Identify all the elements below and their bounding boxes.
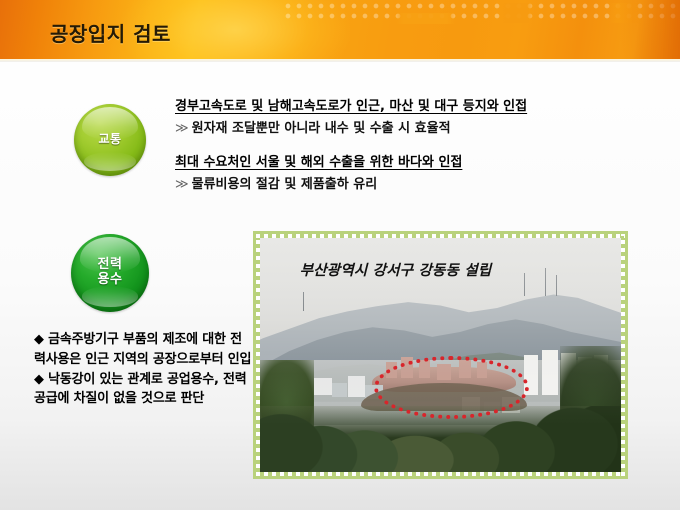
note-item: ◆ 낙동강이 있는 관계로 공업용수, 전력 공급에 차질이 없을 것으로 판단 [34,370,252,410]
header-dot-pattern [285,3,680,23]
badge-traffic-label: 교통 [98,133,121,146]
header-dot-pattern-mask-secondary [285,13,680,24]
chevron-right-icon: ≫ [175,177,189,192]
photo-image: 부산광역시 강서구 강동동 설립 [260,238,621,472]
photo-building [332,383,346,397]
header-right-shade [620,0,680,59]
badge-power-water: 전력 용수 [71,234,149,312]
chevron-right-icon: ≫ [175,121,189,136]
photo-antenna [303,292,304,311]
page-title: 공장입지 검토 [50,18,171,47]
traffic-bullet-1: ≫원자재 조달뿐만 아니라 내수 및 수출 시 효율적 [175,120,527,138]
note-list-power-water: ◆ 금속주방기구 부품의 제조에 대한 전력사용은 인근 지역의 공장으로부터 … [34,330,252,409]
photo-antenna [524,273,525,296]
photo-building [314,378,332,394]
traffic-bullet-2-text: 물류비용의 절감 및 제품출하 유리 [192,177,378,192]
badge-power-water-label-1: 전력 [98,258,123,273]
header-dot-pattern-mask [285,3,680,23]
photo-panel: 부산광역시 강서구 강동동 설립 [253,231,628,479]
photo-caption: 부산광역시 강서구 강동동 설립 [300,259,492,280]
text-block-traffic-2: 최대 수요처인 서울 및 해외 수출을 위한 바다와 인접 ≫물류비용의 절감 … [175,154,462,193]
text-block-traffic-1: 경부고속도로 및 남해고속도로가 인근, 마산 및 대구 등지와 인접 ≫원자재… [175,98,527,137]
header-divider [0,59,680,62]
traffic-heading-2: 최대 수요처인 서울 및 해외 수출을 위한 바다와 인접 [175,154,462,172]
traffic-bullet-1-text: 원자재 조달뿐만 아니라 내수 및 수출 시 효율적 [192,121,451,136]
photo-building [348,376,364,397]
note-item: ◆ 금속주방기구 부품의 제조에 대한 전력사용은 인근 지역의 공장으로부터 … [34,330,252,370]
traffic-bullet-2: ≫물류비용의 절감 및 제품출하 유리 [175,176,462,194]
photo-highlight-ellipse [374,356,529,419]
badge-power-water-label-2: 용수 [98,273,123,288]
photo-antenna [556,275,557,296]
traffic-heading-1: 경부고속도로 및 남해고속도로가 인근, 마산 및 대구 등지와 인접 [175,98,527,116]
badge-traffic: 교통 [74,104,146,176]
photo-antenna [545,268,546,296]
photo-building [542,350,558,394]
